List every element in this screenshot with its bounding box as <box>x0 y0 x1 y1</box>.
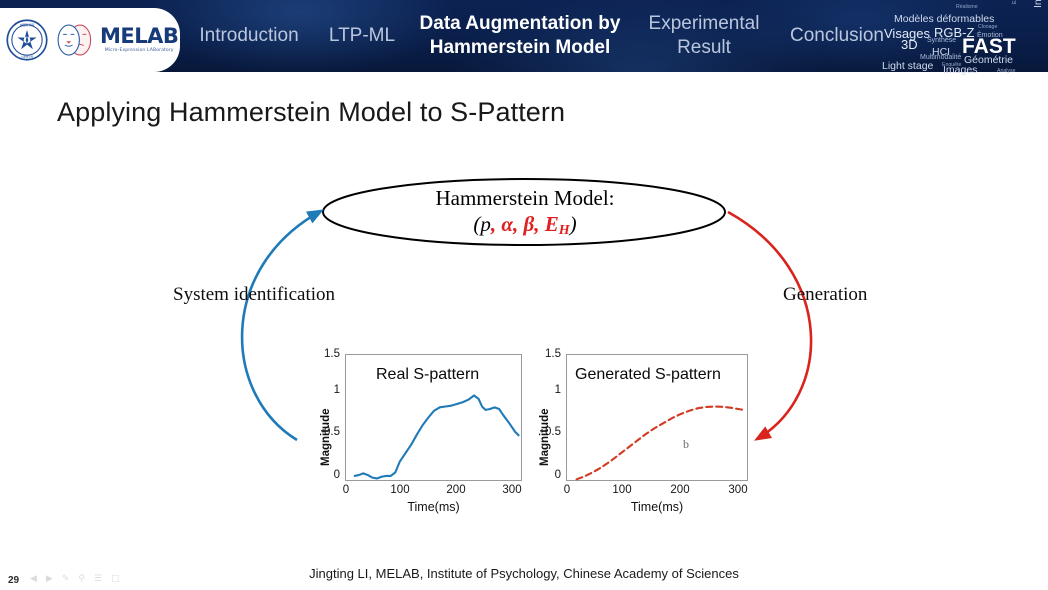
micro-expression-faces-icon <box>55 23 95 57</box>
system-identification-arrow <box>242 211 321 440</box>
melab-brand-text: MELAB <box>100 26 178 47</box>
real-s-pattern-chart: Real S-pattern Magnitude 1.5 1 0.5 0 0 1… <box>318 348 533 518</box>
pen-icon[interactable]: ✎ <box>62 574 70 584</box>
generated-chart-ytick: 0.5 <box>537 426 561 438</box>
wordcloud-word: Images <box>943 64 977 76</box>
generated-chart-xtick: 100 <box>610 484 634 496</box>
page-number: 29 <box>8 575 19 586</box>
real-chart-ytick: 0.5 <box>316 426 340 438</box>
generated-chart-ytick: 1 <box>537 384 561 396</box>
nav-item-introduction[interactable]: Introduction <box>186 0 312 72</box>
svg-text:中国科学院: 中国科学院 <box>20 22 35 27</box>
wordcloud-word: Interaction <box>1032 0 1044 8</box>
generated-chart-xlabel: Time(ms) <box>566 500 748 514</box>
generated-chart-ytick: 0 <box>537 469 561 481</box>
zoom-icon[interactable]: ⚲ <box>78 574 85 584</box>
real-chart-ytick: 1.5 <box>316 348 340 360</box>
nav-label-data-augmentation: Data Augmentation by Hammerstein Model <box>414 12 626 60</box>
wordcloud-word: Clonage <box>978 24 997 30</box>
generated-chart-xtick: 0 <box>561 484 573 496</box>
nav-label-ltp-ml: LTP-ML <box>329 24 395 48</box>
wordcloud-word: 3D <box>901 37 918 52</box>
real-chart-xtick: 200 <box>444 484 468 496</box>
real-s-pattern-series <box>345 354 522 481</box>
nav-label-conclusion: Conclusion <box>790 24 884 48</box>
wordcloud-word: Analyse <box>997 68 1015 74</box>
nav-item-ltp-ml[interactable]: LTP-ML <box>312 0 412 72</box>
real-chart-ytick: 1 <box>316 384 340 396</box>
text-cursor-artifact: b <box>683 438 691 450</box>
real-chart-xtick: 300 <box>500 484 524 496</box>
svg-text:心理研究所: 心理研究所 <box>21 55 34 59</box>
melab-wordmark: MELAB Micro-Expression LABoratory <box>100 26 178 54</box>
wordcloud-word: Réalisme <box>956 4 978 10</box>
generated-chart-xtick: 300 <box>726 484 750 496</box>
real-chart-xtick: 0 <box>340 484 352 496</box>
system-identification-label: System identification <box>173 284 335 306</box>
nav-label-experimental-result: Experimental Result <box>628 12 780 60</box>
hammerstein-model-ellipse <box>323 179 725 245</box>
previous-slide-icon[interactable]: ◀ <box>30 574 37 584</box>
nav-item-data-augmentation[interactable]: Data Augmentation by Hammerstein Model <box>414 0 626 72</box>
nav-label-introduction: Introduction <box>199 24 298 48</box>
wordcloud-word: Light stage <box>882 60 933 72</box>
top-navigation-bar: 中国科学院 心理研究所 MELAB Micro-Expression LABor… <box>0 0 1048 78</box>
slide-footer: Jingting LI, MELAB, Institute of Psychol… <box>0 566 1048 581</box>
real-chart-ytick: 0 <box>316 469 340 481</box>
generated-s-pattern-series <box>566 354 748 481</box>
fullscreen-icon[interactable]: □ <box>111 574 120 584</box>
next-slide-icon[interactable]: ▶ <box>46 574 53 584</box>
fast-team-wordcloud-logo: Réalisme Modèles déformables Visages RGB… <box>880 2 1048 74</box>
menu-icon[interactable]: ☰ <box>94 574 102 584</box>
wordcloud-word: Expression <box>1012 0 1018 4</box>
real-chart-xlabel: Time(ms) <box>345 500 522 514</box>
wordcloud-word: Synthèse <box>927 37 956 44</box>
melab-subtitle-text: Micro-Expression LABoratory <box>105 49 174 54</box>
generated-s-pattern-chart: Generated S-pattern Magnitude 1.5 1 0.5 … <box>537 348 759 518</box>
generated-chart-xtick: 200 <box>668 484 692 496</box>
viewer-controls[interactable]: ◀ ▶ ✎ ⚲ ☰ □ <box>30 574 120 584</box>
real-chart-xtick: 100 <box>388 484 412 496</box>
nav-item-experimental-result[interactable]: Experimental Result <box>628 0 780 72</box>
institute-seal-icon: 中国科学院 心理研究所 <box>6 19 48 61</box>
generated-chart-ytick: 1.5 <box>537 348 561 360</box>
generation-label: Generation <box>783 284 867 306</box>
melab-logo[interactable]: 中国科学院 心理研究所 MELAB Micro-Expression LABor… <box>0 8 180 72</box>
